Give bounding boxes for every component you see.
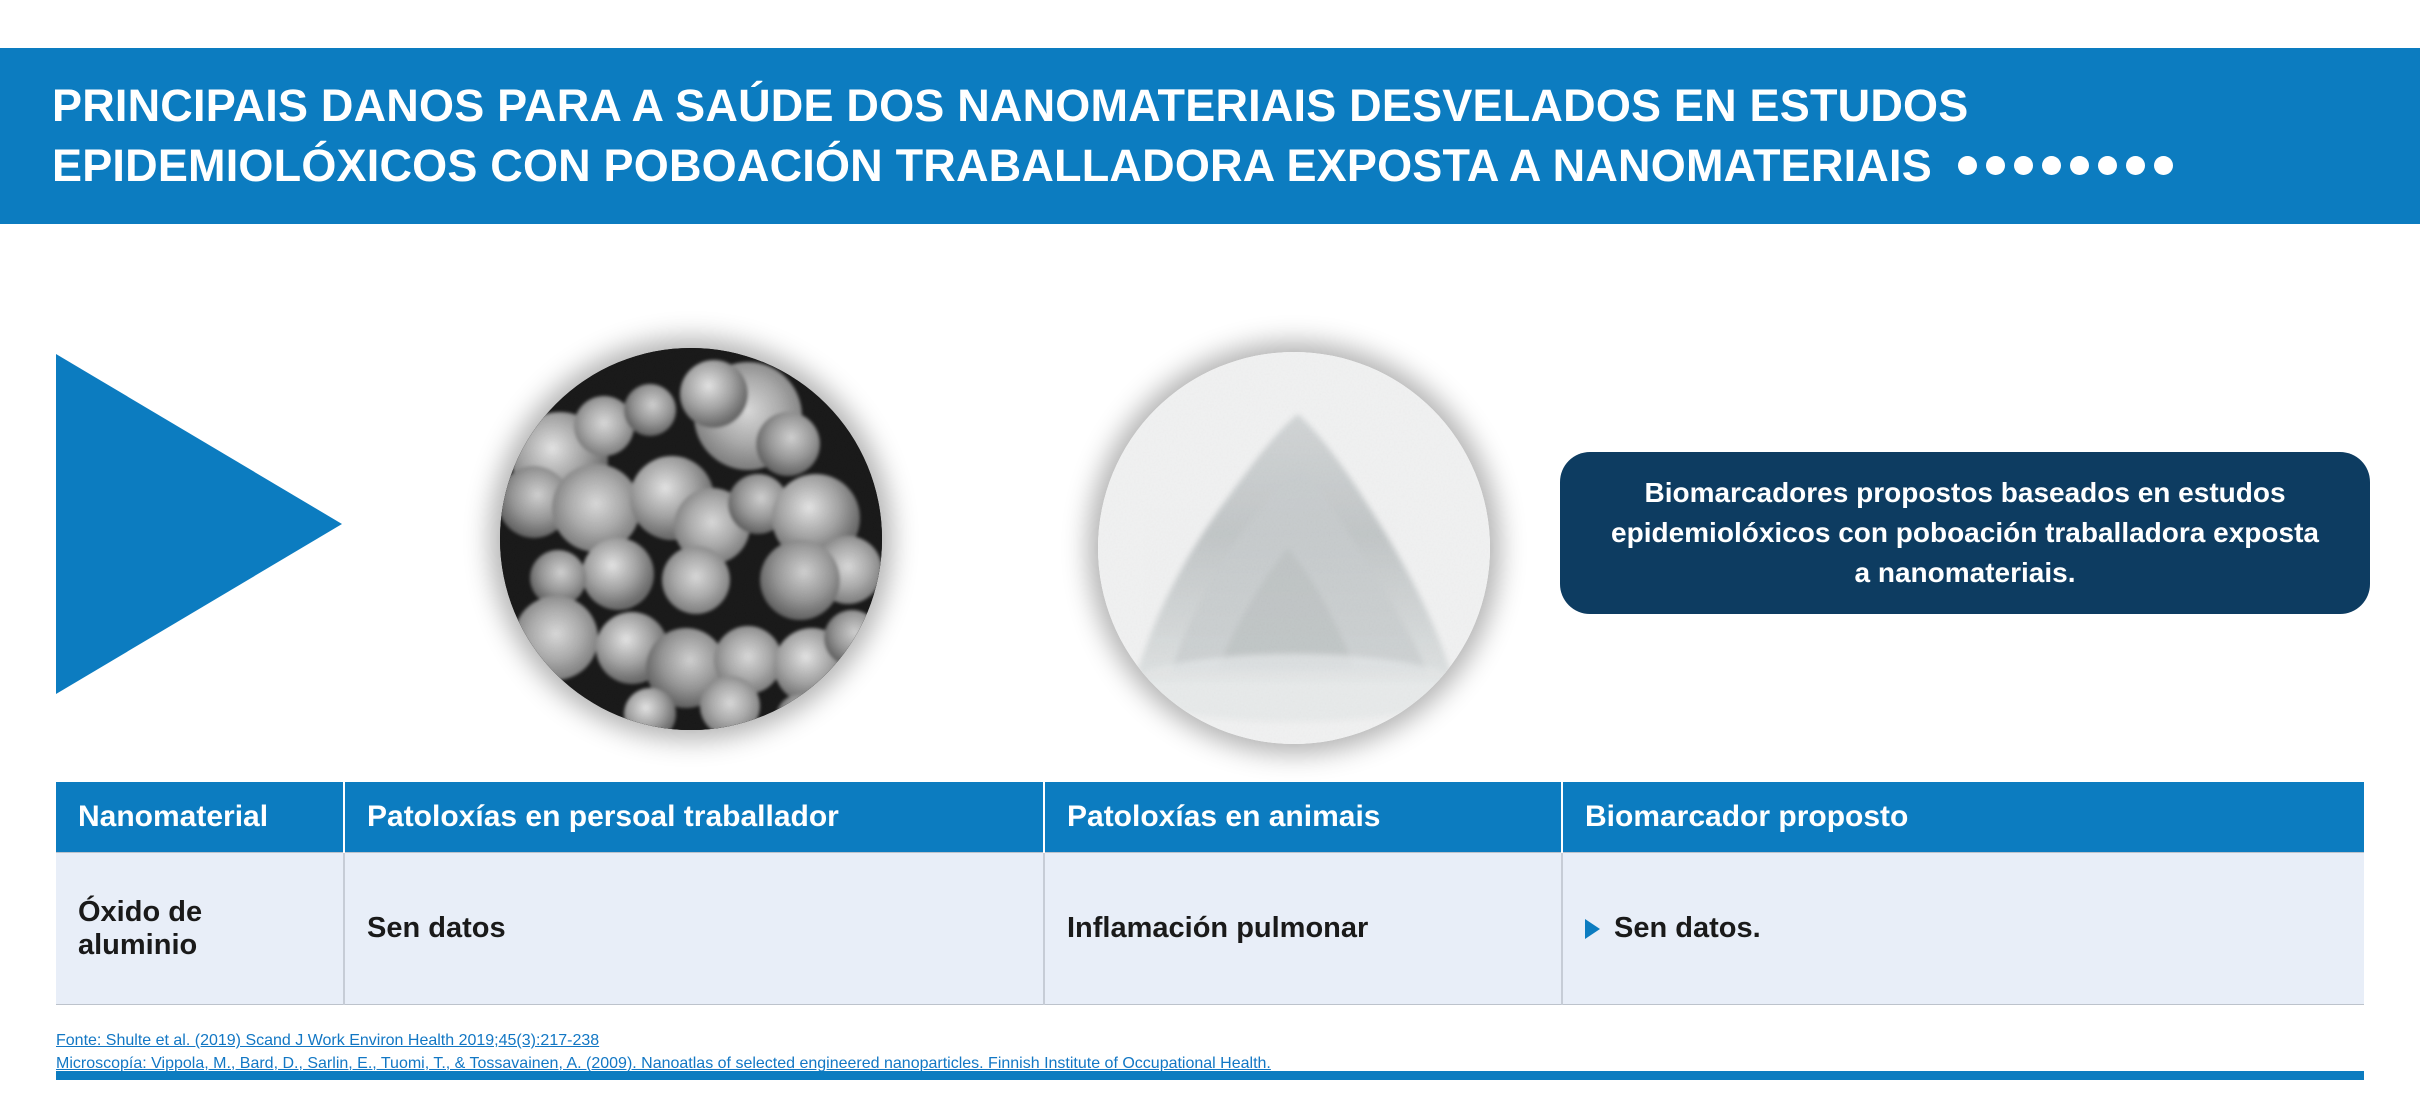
dot-icon [2042,156,2061,175]
nanomaterial-table: Nanomaterial Patoloxías en persoal traba… [56,782,2364,1005]
biomarker-callout-text: Biomarcadores propostos baseados en estu… [1602,473,2328,592]
dot-icon [2014,156,2033,175]
slide-canvas: PRINCIPAIS DANOS PARA A SAÚDE DOS NANOMA… [0,0,2420,1096]
column-header-patoloxias-animais: Patoloxías en animais [1044,782,1562,853]
triangle-bullet-icon [1585,919,1600,939]
footnotes: Fonte: Shulte et al. (2019) Scand J Work… [56,1030,1856,1075]
header-dots-decoration [1958,156,2173,175]
cell-patoloxias-persoal: Sen datos [344,853,1044,1005]
column-header-biomarcador: Biomarcador proposto [1562,782,2364,853]
sem-micrograph-graphic [500,348,882,730]
table-row: Óxido de aluminio Sen datos Inflamación … [56,853,2364,1005]
cell-biomarcador-text: Sen datos. [1614,912,1761,945]
table-header: Nanomaterial Patoloxías en persoal traba… [56,782,2364,853]
bottom-accent-bar [56,1071,2364,1080]
nanopowder-image [1098,352,1490,744]
cell-nanomaterial: Óxido de aluminio [56,853,344,1005]
header-title-line-1-text: PRINCIPAIS DANOS PARA A SAÚDE DOS NANOMA… [52,76,1968,136]
footnote-source-link[interactable]: Fonte: Shulte et al. (2019) Scand J Work… [56,1030,1856,1053]
column-header-patoloxias-persoal: Patoloxías en persoal traballador [344,782,1044,853]
header-title-line-1: PRINCIPAIS DANOS PARA A SAÚDE DOS NANOMA… [52,76,2396,136]
dot-icon [2070,156,2089,175]
header-banner: PRINCIPAIS DANOS PARA A SAÚDE DOS NANOMA… [0,48,2420,224]
table-header-row: Nanomaterial Patoloxías en persoal traba… [56,782,2364,853]
table-body: Óxido de aluminio Sen datos Inflamación … [56,853,2364,1005]
biomarcador-bullet-wrapper: Sen datos. [1585,912,2342,945]
biomarker-callout-box: Biomarcadores propostos baseados en estu… [1560,452,2370,614]
dot-icon [2126,156,2145,175]
dot-icon [1958,156,1977,175]
header-title-line-2: EPIDEMIOLÓXICOS CON POBOACIÓN TRABALLADO… [52,136,2396,196]
column-header-nanomaterial: Nanomaterial [56,782,344,853]
cell-patoloxias-animais: Inflamación pulmonar [1044,853,1562,1005]
play-triangle-arrow-icon [56,354,342,694]
nanopowder-graphic [1098,352,1490,744]
dot-icon [1986,156,2005,175]
header-inner: PRINCIPAIS DANOS PARA A SAÚDE DOS NANOMA… [0,76,2420,196]
dot-icon [2098,156,2117,175]
dot-icon [2154,156,2173,175]
sem-micrograph-image [500,348,882,730]
header-title-line-2-text: EPIDEMIOLÓXICOS CON POBOACIÓN TRABALLADO… [52,136,1932,196]
cell-biomarcador: Sen datos. [1562,853,2364,1005]
